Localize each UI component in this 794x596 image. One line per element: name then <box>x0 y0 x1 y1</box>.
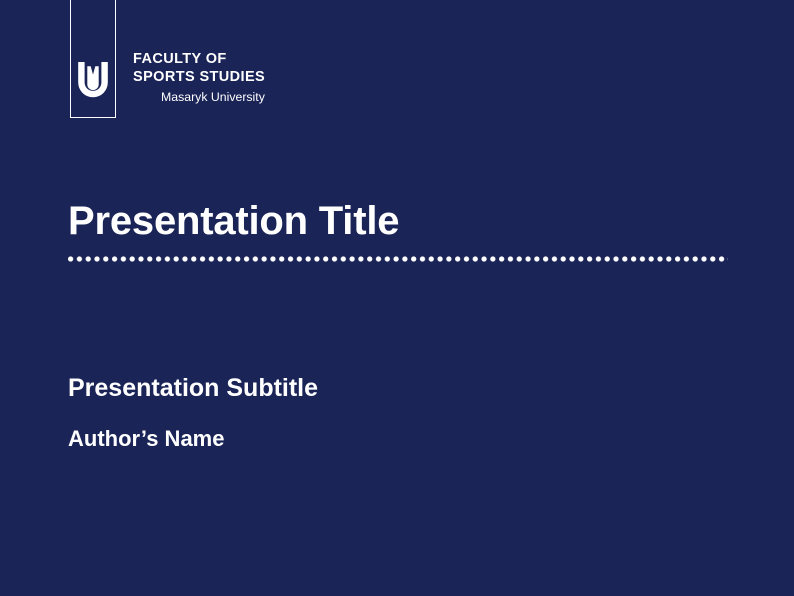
author-name: Author’s Name <box>68 427 318 451</box>
presentation-title-slide: FACULTY OF SPORTS STUDIES Masaryk Univer… <box>0 0 794 596</box>
faculty-line-2: SPORTS STUDIES <box>133 69 265 87</box>
logo-wordmark: FACULTY OF SPORTS STUDIES Masaryk Univer… <box>133 51 265 118</box>
presentation-subtitle: Presentation Subtitle <box>68 375 318 403</box>
subtitle-block: Presentation Subtitle Author’s Name <box>68 375 318 451</box>
faculty-line-1: FACULTY OF <box>133 51 265 69</box>
faculty-logo-lockup: FACULTY OF SPORTS STUDIES Masaryk Univer… <box>70 0 265 118</box>
title-block: Presentation Title <box>68 200 794 262</box>
logo-frame <box>70 0 116 118</box>
dotted-divider <box>68 256 728 262</box>
masaryk-university-logo-icon <box>76 62 110 98</box>
presentation-title: Presentation Title <box>68 200 794 242</box>
university-name: Masaryk University <box>161 89 265 106</box>
